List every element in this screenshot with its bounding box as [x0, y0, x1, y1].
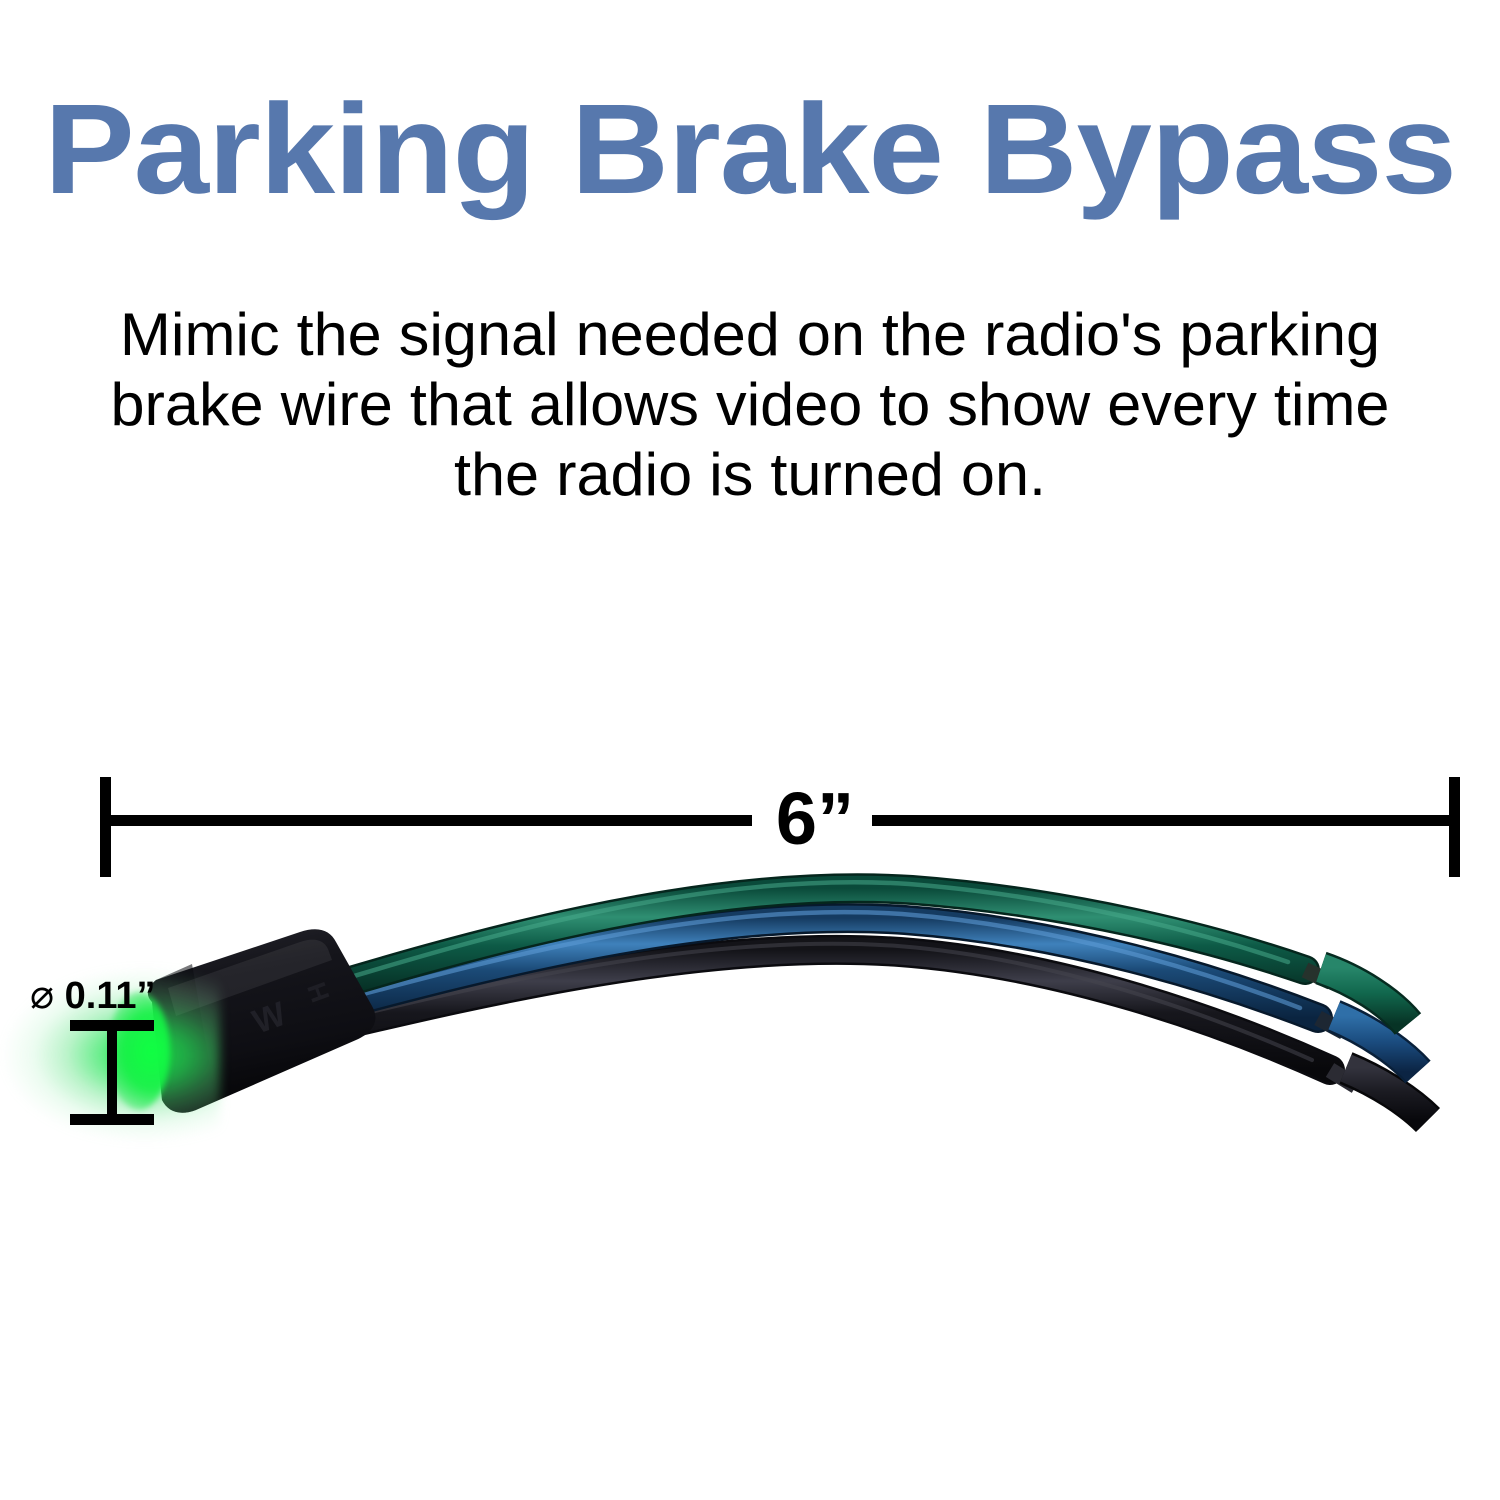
diameter-dimension: ⌀ 0.11”	[30, 972, 230, 1132]
product-infographic: Parking Brake Bypass Mimic the signal ne…	[0, 0, 1500, 1500]
diameter-symbol-icon: ⌀	[30, 973, 54, 1017]
diameter-stem	[107, 1020, 117, 1125]
subtitle: Mimic the signal needed on the radio's p…	[77, 300, 1423, 511]
diameter-dimension-label: ⌀ 0.11”	[30, 972, 156, 1018]
page-title: Parking Brake Bypass	[0, 86, 1500, 214]
diameter-value: 0.11”	[65, 975, 156, 1017]
subtitle-line: brake wire that allows video to show eve…	[77, 370, 1423, 440]
black-wire-tip	[1346, 1068, 1428, 1120]
subtitle-line: the radio is turned on.	[77, 440, 1423, 510]
subtitle-line: Mimic the signal needed on the radio's p…	[77, 300, 1423, 370]
